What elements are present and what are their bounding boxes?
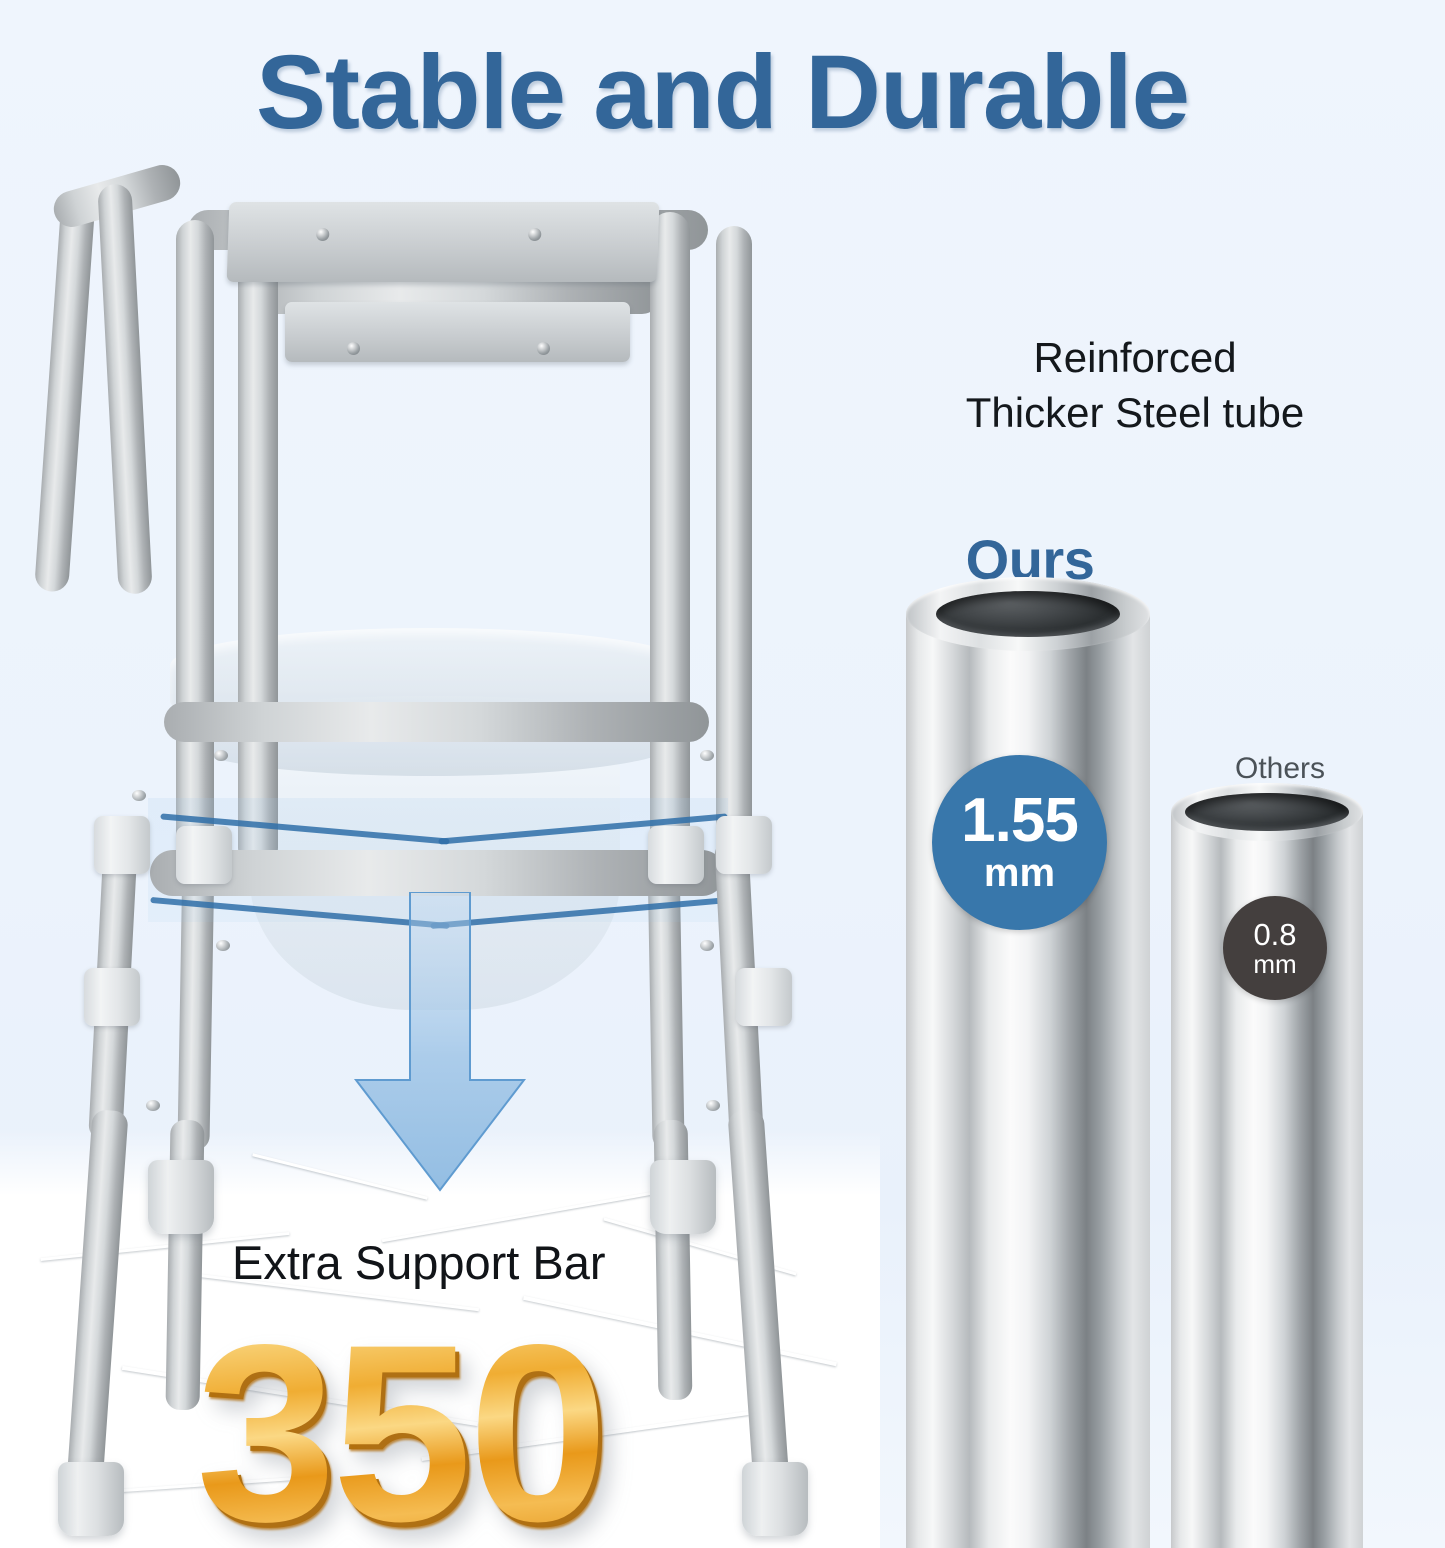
adjust-pin-icon [700,750,714,761]
page-title: Stable and Durable [0,38,1445,148]
others-thickness-badge: 0.8 mm [1223,896,1327,1000]
height-adjust-collar [736,968,792,1026]
others-thickness-unit: mm [1253,951,1296,977]
down-arrow-icon [352,892,528,1192]
height-adjust-collar [176,826,232,884]
rubber-foot-icon [650,1160,716,1234]
rubber-foot-icon [148,1160,214,1234]
marketing-poster: Stable and Durable [0,0,1445,1548]
extra-support-bar-caption: Extra Support Bar [232,1235,662,1290]
ours-steel-tube-icon [906,614,1150,1548]
tube-comparison-heading: Reinforced Thicker Steel tube [905,330,1365,441]
screw-icon [316,228,329,241]
height-adjust-collar [716,816,772,874]
chair-seat-rail [164,702,709,742]
heading-line-1: Reinforced [905,330,1365,385]
screw-icon [347,342,360,355]
adjust-pin-icon [214,750,228,761]
adjust-pin-icon [706,1100,720,1111]
chair-frame-post [176,220,214,860]
heading-line-2: Thicker Steel tube [905,385,1365,440]
screw-icon [528,228,541,241]
others-thickness-value: 0.8 [1253,919,1296,950]
ours-thickness-unit: mm [984,853,1055,893]
adjust-pin-icon [146,1100,160,1111]
chair-frame-post [716,226,752,866]
adjust-pin-icon [132,790,146,801]
tube-body [906,614,1150,1548]
ours-thickness-badge: 1.55 mm [932,755,1107,930]
rubber-foot-icon [742,1462,808,1536]
adjust-pin-icon [216,940,230,951]
height-adjust-collar [94,816,150,874]
adjust-pin-icon [700,940,714,951]
screw-icon [537,342,550,355]
others-label: Others [1185,752,1375,786]
extra-support-bar [150,850,725,896]
tube-bore [1185,793,1349,831]
ours-thickness-value: 1.55 [961,792,1078,851]
chair-armrest-post [97,183,152,594]
weight-capacity-number: 350 [196,1308,604,1548]
tube-bore [936,591,1120,637]
rubber-foot-icon [58,1462,124,1536]
chair-frame-post [238,208,278,868]
product-scene: Extra Support Bar 350 350 [0,150,880,1548]
chair-frame-post [650,212,690,872]
chair-backrest-post [34,191,96,592]
height-adjust-collar [84,968,140,1026]
height-adjust-collar [648,826,704,884]
armrest-pad [285,302,630,362]
armrest-pad [227,202,660,282]
